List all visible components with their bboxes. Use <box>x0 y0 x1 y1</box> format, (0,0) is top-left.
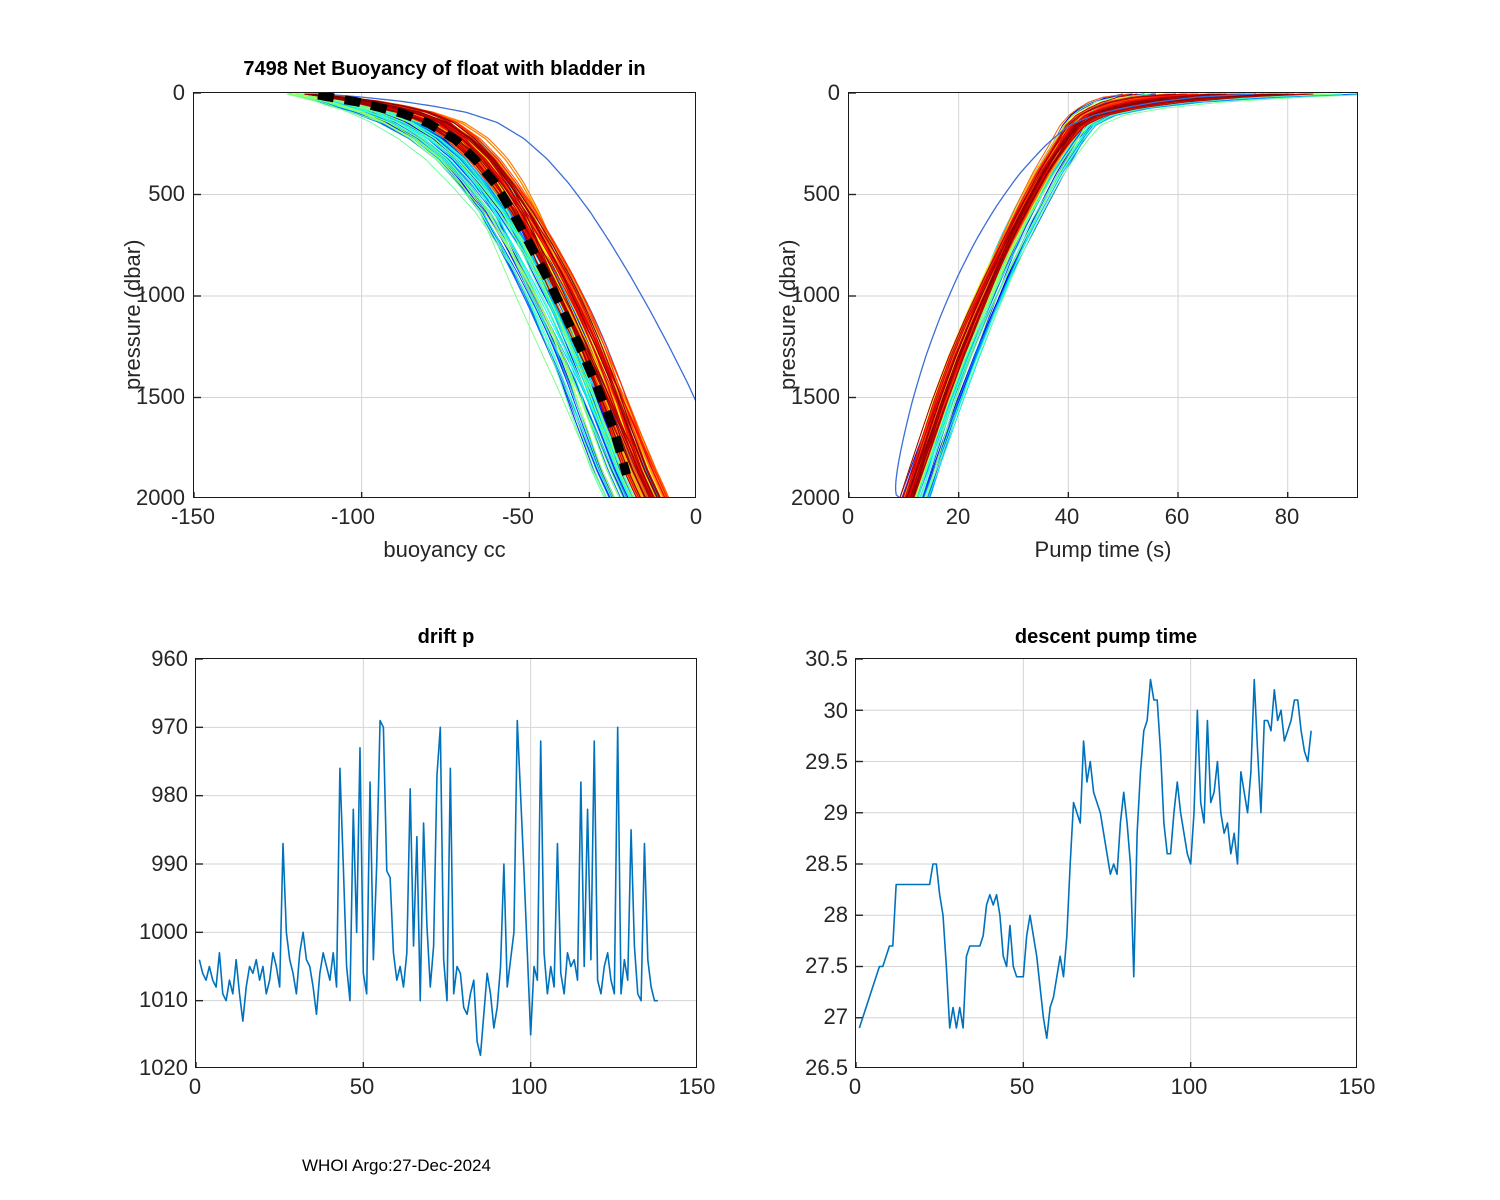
descent-pump-time-ytick-29: 29 <box>760 800 848 826</box>
drift-p-plot-area <box>196 659 697 1068</box>
drift-p-ytick-1000: 1000 <box>110 919 188 945</box>
descent-pump-time-xtick-150: 150 <box>1317 1074 1397 1100</box>
pump-time-plot-area <box>849 93 1358 498</box>
drift-p-ytick-980: 980 <box>110 782 188 808</box>
pump-time-ytick-0: 0 <box>765 80 840 106</box>
drift-p-xtick-0: 0 <box>155 1074 235 1100</box>
net-buoyancy-xtick-0: 0 <box>656 504 736 530</box>
descent-pump-time-ytick-27: 27 <box>760 1004 848 1030</box>
net-buoyancy-plotbox <box>193 92 696 498</box>
descent-pump-time-ytick-30: 30 <box>760 698 848 724</box>
descent-pump-time-xtick-50: 50 <box>982 1074 1062 1100</box>
drift-p-xtick-50: 50 <box>322 1074 402 1100</box>
net-buoyancy-ytick-500: 500 <box>110 181 185 207</box>
figure-canvas: 7498 Net Buoyancy of float with bladder … <box>0 0 1500 1200</box>
descent-pump-time-title: descent pump time <box>855 626 1357 649</box>
net-buoyancy-ytick-0: 0 <box>110 80 185 106</box>
pump-time-xtick-0: 0 <box>808 504 888 530</box>
net-buoyancy-ylabel: pressure (dbar) <box>120 240 146 390</box>
descent-pump-time-ytick-29-5: 29.5 <box>760 749 848 775</box>
descent-pump-time-xtick-0: 0 <box>815 1074 895 1100</box>
net-buoyancy-xlabel: buoyancy cc <box>193 537 696 563</box>
descent-pump-time-ytick-30-5: 30.5 <box>760 646 848 672</box>
descent-pump-time-plotbox <box>855 658 1357 1068</box>
drift-p-title: drift p <box>195 626 697 649</box>
pump-time-xtick-60: 60 <box>1137 504 1217 530</box>
net-buoyancy-xtick--100: -100 <box>313 504 393 530</box>
pump-time-plotbox <box>848 92 1358 498</box>
drift-p-plotbox <box>195 658 697 1068</box>
descent-pump-time-xtick-100: 100 <box>1149 1074 1229 1100</box>
descent-pump-time-ytick-28-5: 28.5 <box>760 851 848 877</box>
net-buoyancy-title: 7498 Net Buoyancy of float with bladder … <box>193 58 696 81</box>
drift-p-xtick-150: 150 <box>657 1074 737 1100</box>
pump-time-xlabel: Pump time (s) <box>848 537 1358 563</box>
pump-time-xtick-40: 40 <box>1027 504 1107 530</box>
net-buoyancy-xtick--150: -150 <box>153 504 233 530</box>
drift-p-ytick-960: 960 <box>110 646 188 672</box>
descent-pump-time-ytick-28: 28 <box>760 902 848 928</box>
drift-p-ytick-1010: 1010 <box>110 987 188 1013</box>
drift-p-ytick-990: 990 <box>110 851 188 877</box>
descent-pump-time-plot-area <box>856 659 1357 1068</box>
net-buoyancy-xtick--50: -50 <box>478 504 558 530</box>
pump-time-xtick-20: 20 <box>918 504 998 530</box>
figure-footer: WHOI Argo:27-Dec-2024 <box>302 1156 491 1176</box>
net-buoyancy-plot-area <box>194 93 696 498</box>
pump-time-xtick-80: 80 <box>1247 504 1327 530</box>
drift-p-ytick-970: 970 <box>110 714 188 740</box>
pump-time-ylabel: pressure (dbar) <box>775 240 801 390</box>
drift-p-xtick-100: 100 <box>489 1074 569 1100</box>
descent-pump-time-ytick-27-5: 27.5 <box>760 953 848 979</box>
pump-time-ytick-500: 500 <box>765 181 840 207</box>
